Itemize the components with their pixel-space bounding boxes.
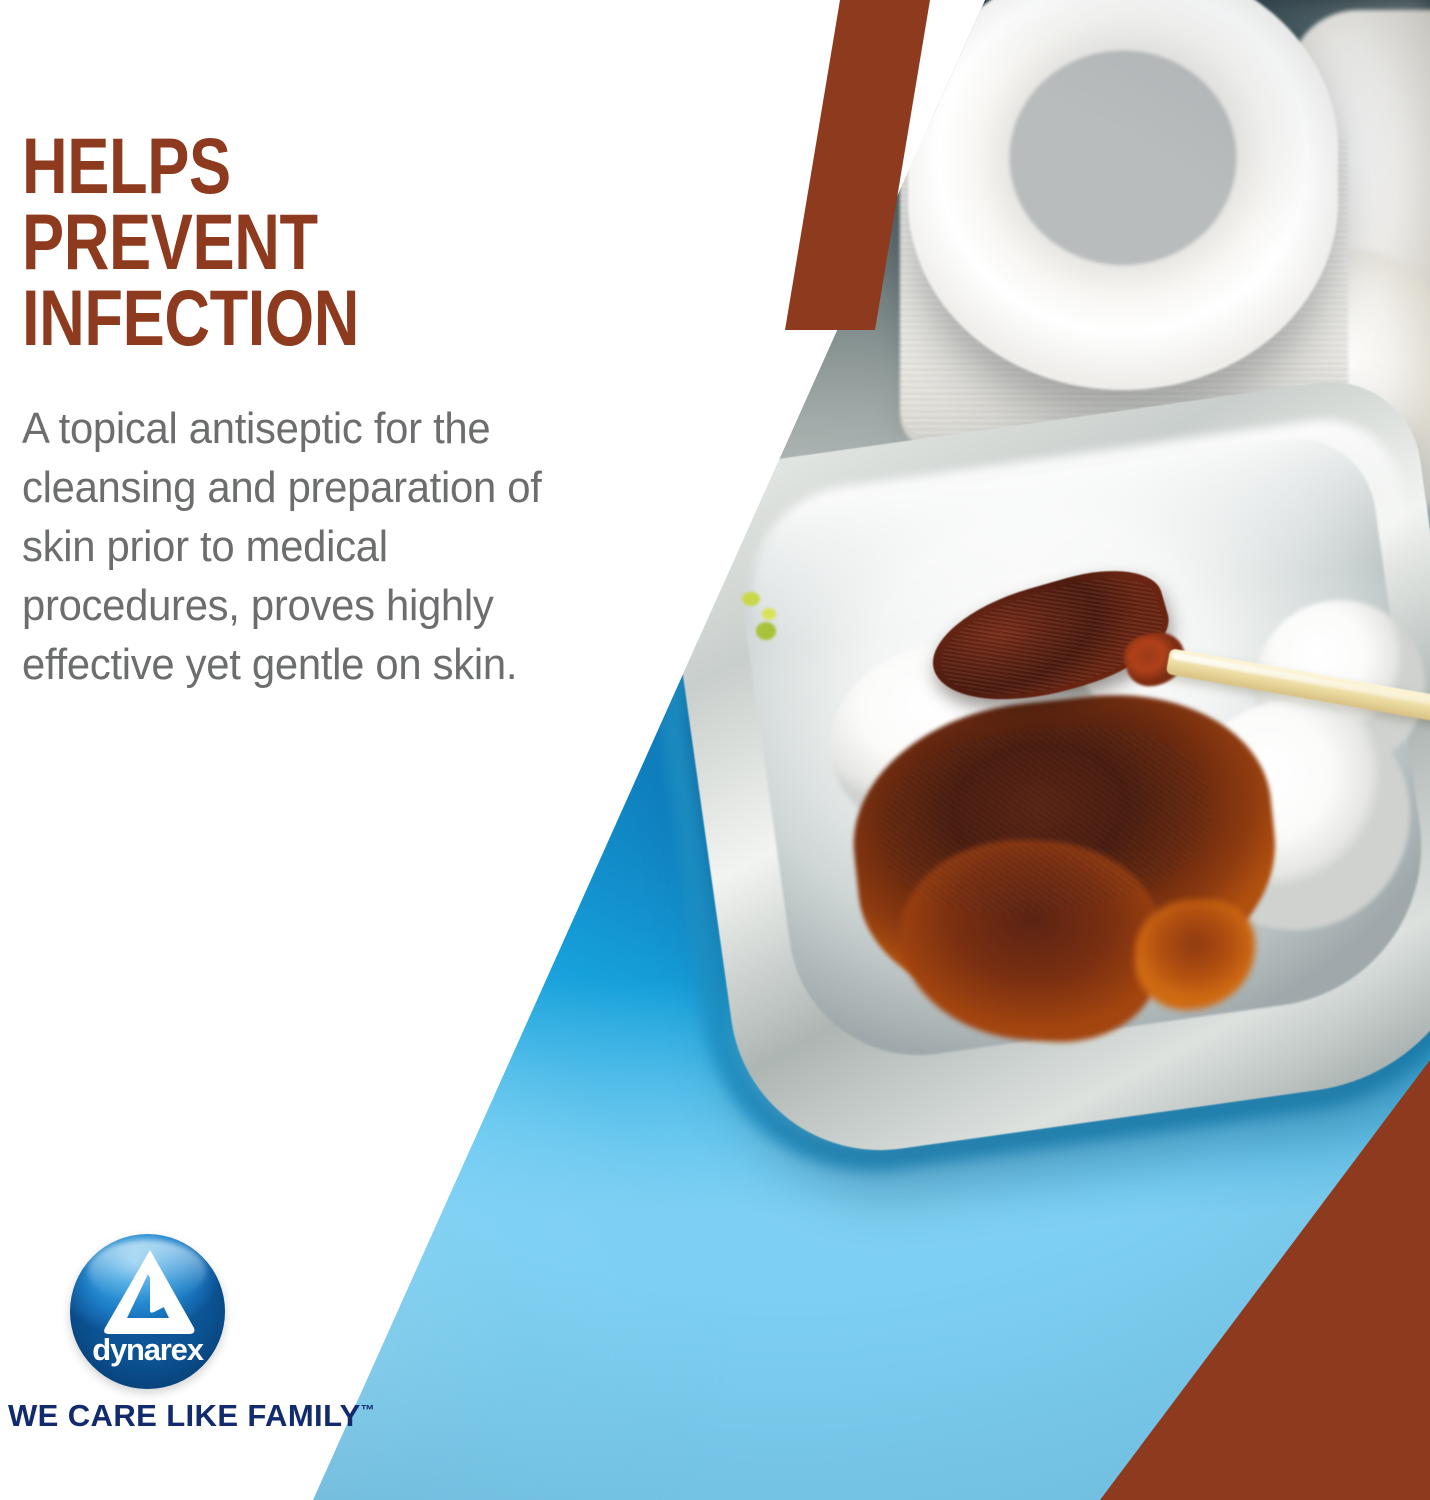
page-title: HELPS PREVENT INFECTION [22, 128, 470, 355]
brand-tagline: WE CARE LIKE FAMILY™ [8, 1398, 375, 1434]
trademark-symbol: ™ [361, 1402, 375, 1418]
dynarex-triangle-icon [100, 1248, 196, 1336]
logo-wordmark: dynarex [70, 1332, 225, 1368]
tagline-text: WE CARE LIKE FAMILY [8, 1398, 361, 1433]
product-feature-poster: HELPS PREVENT INFECTION A topical antise… [0, 0, 1430, 1500]
product-description: A topical antiseptic for the cleansing a… [22, 400, 592, 695]
